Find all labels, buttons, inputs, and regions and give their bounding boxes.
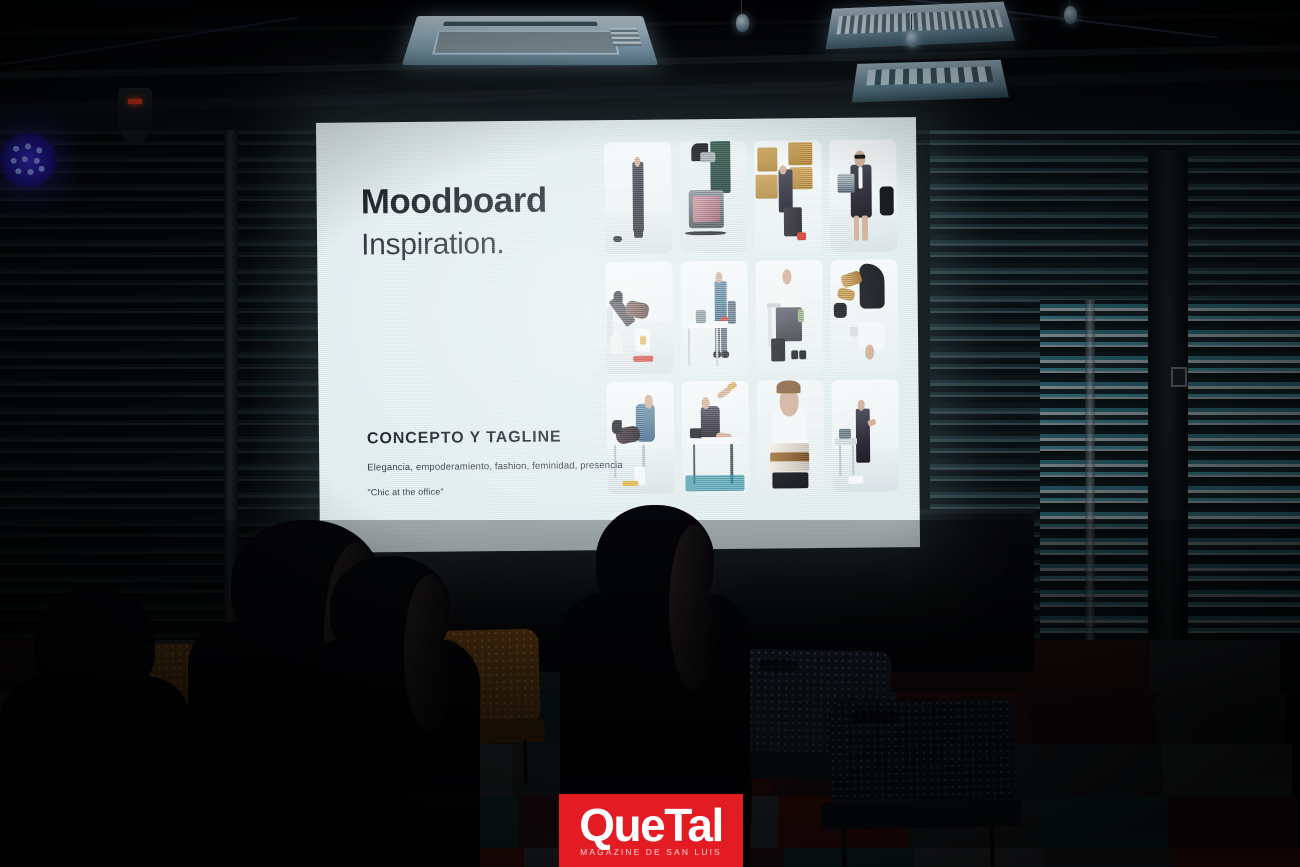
chair-handle-cutout xyxy=(759,659,798,672)
chair-dark-front-right[interactable] xyxy=(829,698,1017,867)
person-hair-highlight xyxy=(669,525,719,690)
chair-handle-cutout xyxy=(851,710,899,723)
chair-leg xyxy=(842,826,847,867)
seating-layer xyxy=(0,0,1300,867)
watermark-logo: QueTal MAGAZINE DE SAN LUIS xyxy=(559,794,743,867)
chair-leg xyxy=(990,823,995,867)
person-hair-highlight xyxy=(404,575,454,731)
person-torso xyxy=(0,676,190,867)
chair-leg xyxy=(523,740,528,785)
photo-scene: Moodboard Inspiration. xyxy=(0,0,1300,867)
watermark-brand: QueTal xyxy=(579,804,723,846)
watermark-tagline: MAGAZINE DE SAN LUIS xyxy=(580,847,722,857)
